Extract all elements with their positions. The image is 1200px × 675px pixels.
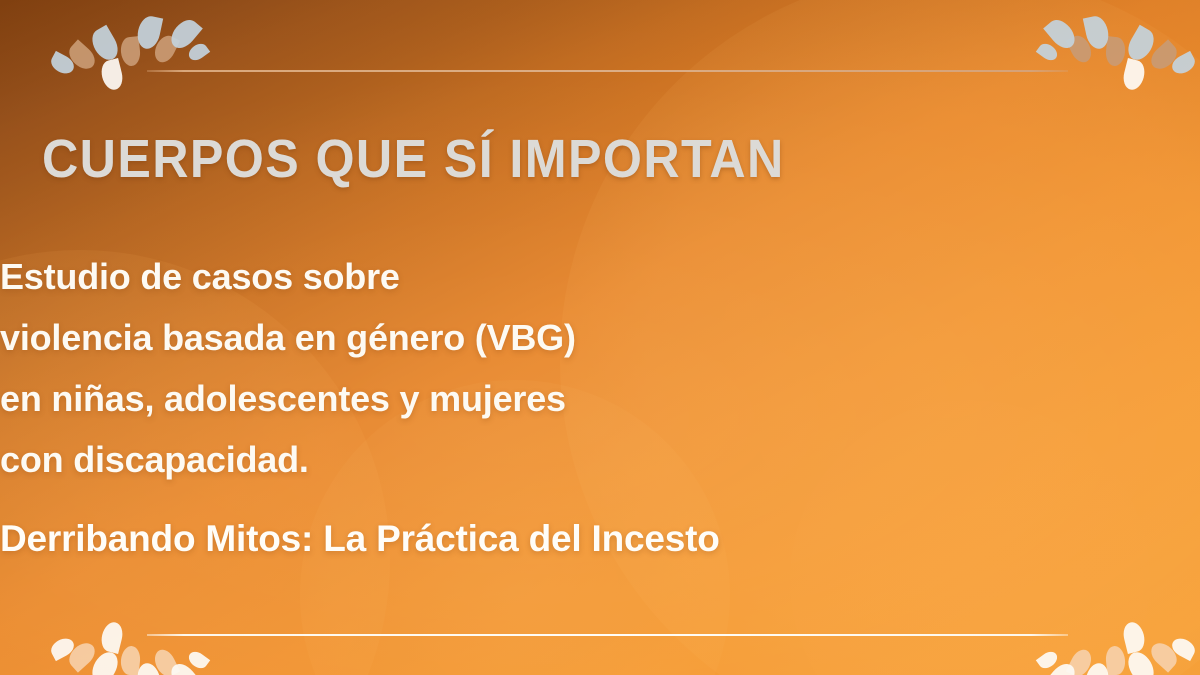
leaf-cluster-top-right <box>1040 2 1200 112</box>
leaf-cluster-bottom-right <box>1040 600 1200 675</box>
subtitle-line: Estudio de casos sobre <box>0 246 1200 307</box>
leaf-icon <box>1105 36 1127 67</box>
leaf-cluster-bottom-left <box>46 600 206 675</box>
bottom-divider <box>147 634 1068 636</box>
subtitle-line: violencia basada en género (VBG) <box>0 307 1200 368</box>
slide-headline: Derribando Mitos: La Práctica del Incest… <box>0 518 1200 560</box>
slide-subtitle: Estudio de casos sobre violencia basada … <box>0 246 1200 490</box>
title-slide: CUERPOS QUE SÍ IMPORTAN Estudio de casos… <box>0 0 1200 675</box>
subtitle-line: con discapacidad. <box>0 429 1200 490</box>
leaf-icon <box>99 620 126 654</box>
page-title: CUERPOS QUE SÍ IMPORTAN <box>42 128 1158 190</box>
subtitle-line: en niñas, adolescentes y mujeres <box>0 368 1200 429</box>
top-divider <box>147 70 1068 72</box>
leaf-icon <box>1121 58 1148 92</box>
leaf-icon <box>1121 620 1148 654</box>
leaf-cluster-top-left <box>46 2 206 112</box>
leaf-icon <box>99 58 126 92</box>
